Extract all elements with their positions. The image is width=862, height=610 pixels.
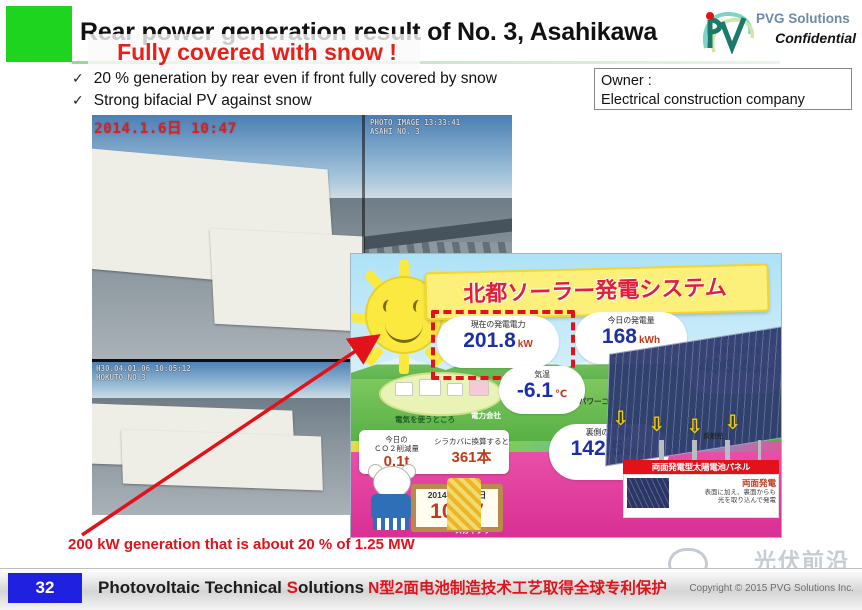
metric-value: -6.1 bbox=[517, 379, 553, 402]
bullet-item: ✓ 20 % generation by rear even if front … bbox=[72, 68, 582, 89]
bullet-item: ✓ Strong bifacial PV against snow bbox=[72, 90, 582, 111]
panel-type-bar: 両面発電型太陽電池パネル bbox=[623, 460, 779, 474]
check-icon: ✓ bbox=[72, 90, 84, 111]
reflected-light-label: 反射光 bbox=[704, 430, 724, 440]
footer-chinese-text: N型2面电池制造技术工艺取得全球专利保护 bbox=[368, 580, 667, 597]
sunlight-arrow-icon: ⇩ bbox=[724, 410, 741, 435]
cam-id-line1: PHOTO IMAGE bbox=[370, 118, 420, 127]
solar-monitor-display: 北都ソーラー発電システム 現在の発電電力 201.8kW 今日の発電量 168k… bbox=[350, 253, 782, 538]
cam-id-line2: ASAHI NO. 3 bbox=[370, 127, 460, 136]
owner-label: Owner : bbox=[601, 72, 845, 91]
camera-quadrant-top-left bbox=[92, 115, 364, 359]
metric-temperature: 気温 -6.1℃ bbox=[499, 366, 585, 414]
footer-copyright: Copyright © 2015 PVG Solutions Inc. bbox=[689, 583, 854, 594]
bullet-text: Strong bifacial PV against snow bbox=[94, 90, 312, 111]
snow-covered-panel bbox=[210, 228, 364, 332]
slide: Rear power generation result of No. 3, A… bbox=[0, 0, 862, 609]
footer-tagline-s: S bbox=[287, 578, 298, 597]
village-label: 電気を使うところ bbox=[395, 414, 455, 425]
metric-unit: ℃ bbox=[555, 389, 567, 400]
page-number: 32 bbox=[8, 573, 82, 603]
bullet-text: 20 % generation by rear even if front fu… bbox=[94, 68, 497, 89]
caption-text: 200 kW generation that is about 20 % of … bbox=[68, 533, 498, 557]
owner-value: Electrical construction company bbox=[601, 91, 845, 110]
power-company-label: 電力会社 bbox=[471, 410, 501, 421]
slide-footer: 32 Photovoltaic Technical SolutionsN型2面电… bbox=[0, 568, 862, 610]
sunlight-arrow-icon: ⇩ bbox=[686, 414, 703, 439]
owner-box: Owner : Electrical construction company bbox=[594, 68, 852, 110]
panel-info-box: 両面発電 表面に加え、裏面からも 光を取り込んで発電 bbox=[623, 474, 779, 518]
co2-label-line1: シラカバに換算すると bbox=[434, 437, 509, 446]
callout-arrow bbox=[60, 330, 390, 545]
pvg-logo: PVG Solutions Confidential bbox=[700, 6, 856, 58]
co2-value: 361本 bbox=[434, 446, 509, 467]
logo-company-name: PVG Solutions bbox=[756, 12, 856, 26]
footer-tagline: Photovoltaic Technical SolutionsN型2面电池制造… bbox=[98, 576, 667, 600]
metric-value: 168 bbox=[602, 325, 637, 348]
footer-tagline-post: olutions bbox=[298, 578, 364, 597]
co2-item: シラカバに換算すると 361本 bbox=[434, 437, 509, 467]
confidential-label: Confidential bbox=[756, 30, 856, 46]
check-icon: ✓ bbox=[72, 68, 84, 89]
rice-figure-icon bbox=[447, 478, 481, 530]
sunlight-arrow-icon: ⇩ bbox=[612, 406, 629, 431]
snow-banner-text: Fully covered with snow ! bbox=[92, 36, 422, 68]
panel-thumbnail bbox=[627, 478, 669, 508]
cam-time: 13:33:41 bbox=[424, 118, 460, 127]
metric-unit: kWh bbox=[639, 335, 660, 346]
footer-tagline-pre: Photovoltaic Technical bbox=[98, 578, 287, 597]
photo-timestamp-top-right: PHOTO IMAGE 13:33:41 ASAHI NO. 3 bbox=[370, 118, 460, 136]
green-accent-block bbox=[6, 6, 72, 62]
photo-timestamp-main: 2014.1.6日 10:47 bbox=[94, 117, 237, 138]
bullet-list: ✓ 20 % generation by rear even if front … bbox=[72, 68, 582, 112]
pv-logo-icon bbox=[700, 8, 756, 54]
sunlight-arrow-icon: ⇩ bbox=[648, 412, 665, 437]
